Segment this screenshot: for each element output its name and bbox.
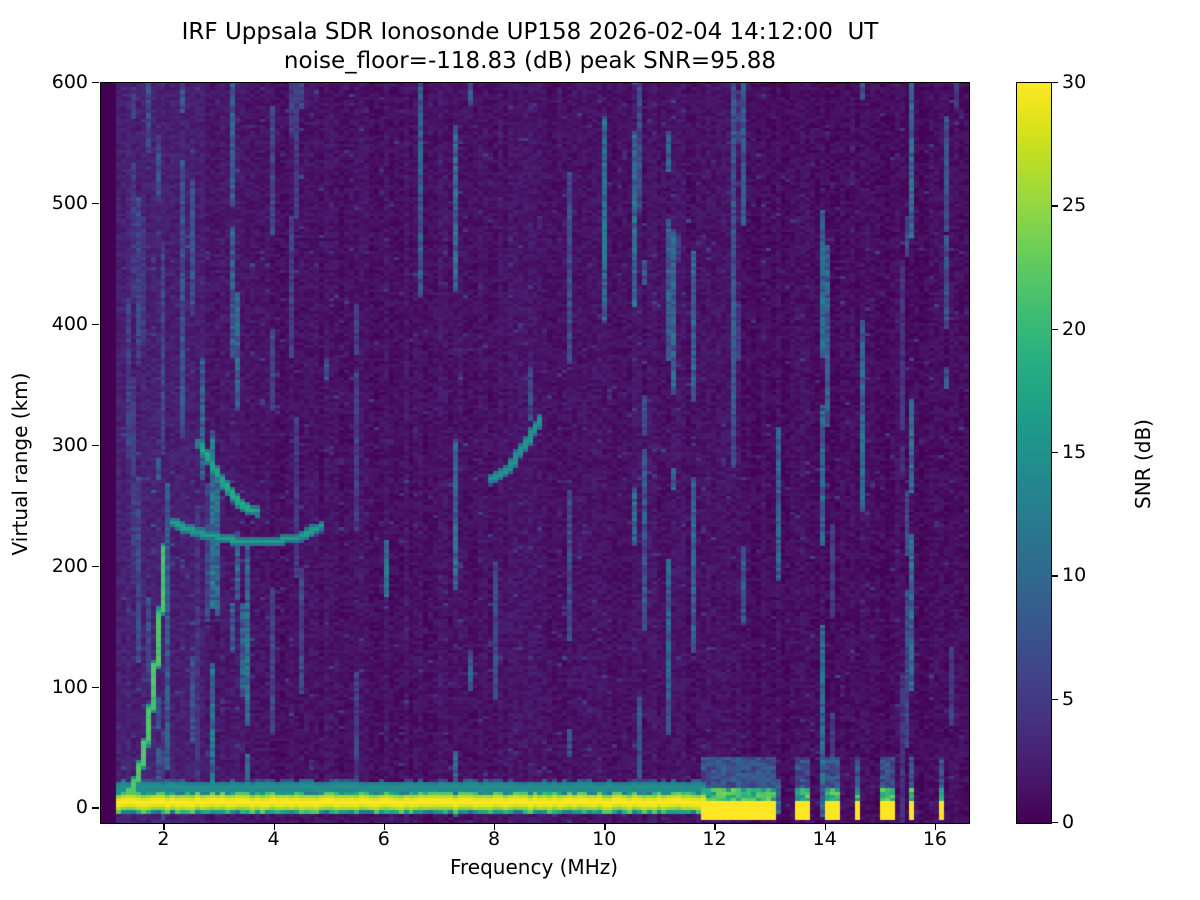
x-tick-mark [163, 823, 164, 830]
colorbar-tick-label: 30 [1062, 71, 1086, 93]
colorbar-gradient [1017, 83, 1051, 823]
y-tick-mark [92, 445, 99, 446]
ionogram-figure: IRF Uppsala SDR Ionosonde UP158 2026-02-… [0, 0, 1200, 900]
y-tick-label: 500 [28, 192, 88, 214]
colorbar-tick-label: 5 [1062, 688, 1074, 710]
x-tick-mark [714, 823, 715, 830]
colorbar-tick-mark [1051, 452, 1058, 453]
x-tick-mark [274, 823, 275, 830]
colorbar-tick-mark [1051, 822, 1058, 823]
x-tick-label: 2 [133, 828, 193, 850]
colorbar-tick-label: 0 [1062, 811, 1074, 833]
y-tick-label: 300 [28, 434, 88, 456]
title-line-1: IRF Uppsala SDR Ionosonde UP158 2026-02-… [0, 18, 1060, 47]
colorbar-tick-mark [1051, 205, 1058, 206]
y-tick-label: 600 [28, 71, 88, 93]
x-tick-mark [825, 823, 826, 830]
y-tick-mark [92, 324, 99, 325]
colorbar-tick-label: 15 [1062, 441, 1086, 463]
y-tick-mark [92, 203, 99, 204]
colorbar-tick-label: 20 [1062, 318, 1086, 340]
colorbar-tick-mark [1051, 82, 1058, 83]
x-tick-mark [935, 823, 936, 830]
title-line-2: noise_floor=-118.83 (dB) peak SNR=95.88 [0, 47, 1060, 76]
y-tick-label: 200 [28, 555, 88, 577]
y-axis-label: Virtual range (km) [8, 314, 32, 614]
x-tick-mark [604, 823, 605, 830]
y-tick-mark [92, 687, 99, 688]
y-tick-label: 0 [28, 796, 88, 818]
y-tick-mark [92, 82, 99, 83]
colorbar-tick-mark [1051, 575, 1058, 576]
x-tick-label: 12 [684, 828, 744, 850]
y-tick-mark [92, 566, 99, 567]
figure-title: IRF Uppsala SDR Ionosonde UP158 2026-02-… [0, 18, 1060, 77]
colorbar-label: SNR (dB) [1131, 314, 1155, 614]
y-tick-label: 100 [28, 676, 88, 698]
x-tick-label: 10 [574, 828, 634, 850]
x-tick-mark [384, 823, 385, 830]
x-tick-label: 6 [354, 828, 414, 850]
ionogram-heatmap-canvas [101, 83, 969, 823]
colorbar-tick-label: 25 [1062, 194, 1086, 216]
y-tick-label: 400 [28, 313, 88, 335]
y-tick-mark [92, 807, 99, 808]
colorbar-tick-mark [1051, 699, 1058, 700]
x-tick-mark [494, 823, 495, 830]
colorbar-tick-label: 10 [1062, 564, 1086, 586]
colorbar-tick-mark [1051, 329, 1058, 330]
x-tick-label: 14 [795, 828, 855, 850]
x-tick-label: 16 [905, 828, 965, 850]
colorbar[interactable] [1016, 82, 1052, 824]
x-axis-label: Frequency (MHz) [100, 855, 968, 879]
ionogram-plot-area[interactable] [100, 82, 970, 824]
x-tick-label: 4 [244, 828, 304, 850]
x-tick-label: 8 [464, 828, 524, 850]
